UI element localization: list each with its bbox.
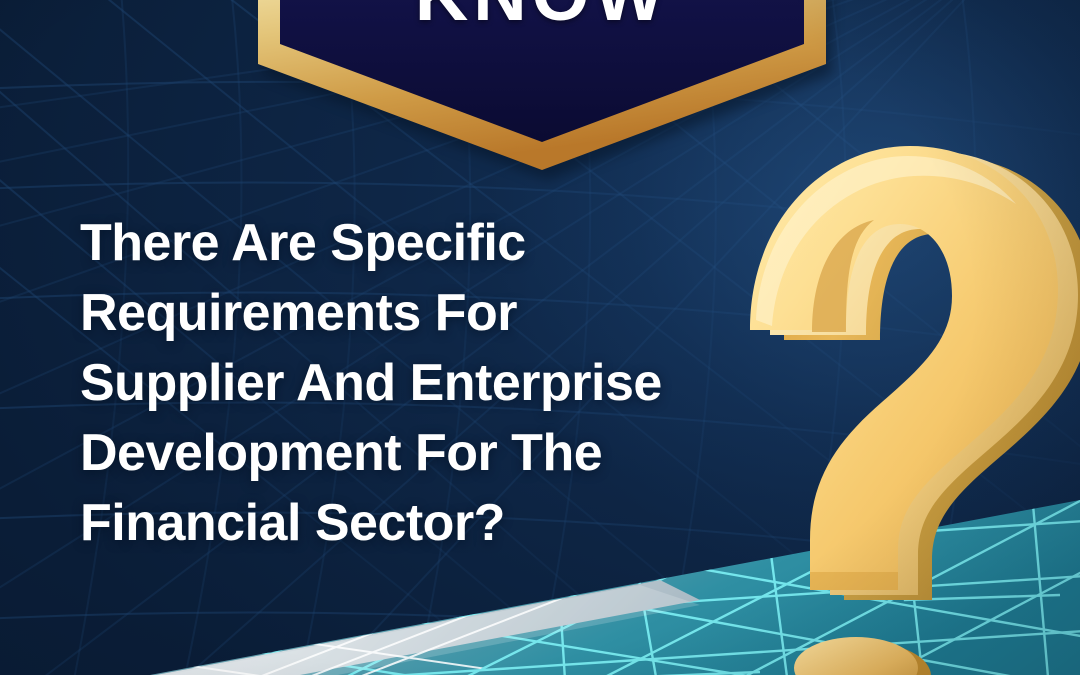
- badge-label: KNOW: [258, 0, 826, 32]
- headline-line-1: There Are Specific: [80, 208, 700, 278]
- headline-line-2: Requirements For: [80, 278, 700, 348]
- headline-line-4: Development For The: [80, 418, 700, 488]
- headline-line-3: Supplier And Enterprise: [80, 348, 700, 418]
- poster-canvas: KNOW There Are Specific Requirements For…: [0, 0, 1080, 675]
- question-mark-icon: [660, 120, 1080, 675]
- headline-text: There Are Specific Requirements For Supp…: [80, 208, 700, 558]
- headline-line-5: Financial Sector?: [80, 488, 700, 558]
